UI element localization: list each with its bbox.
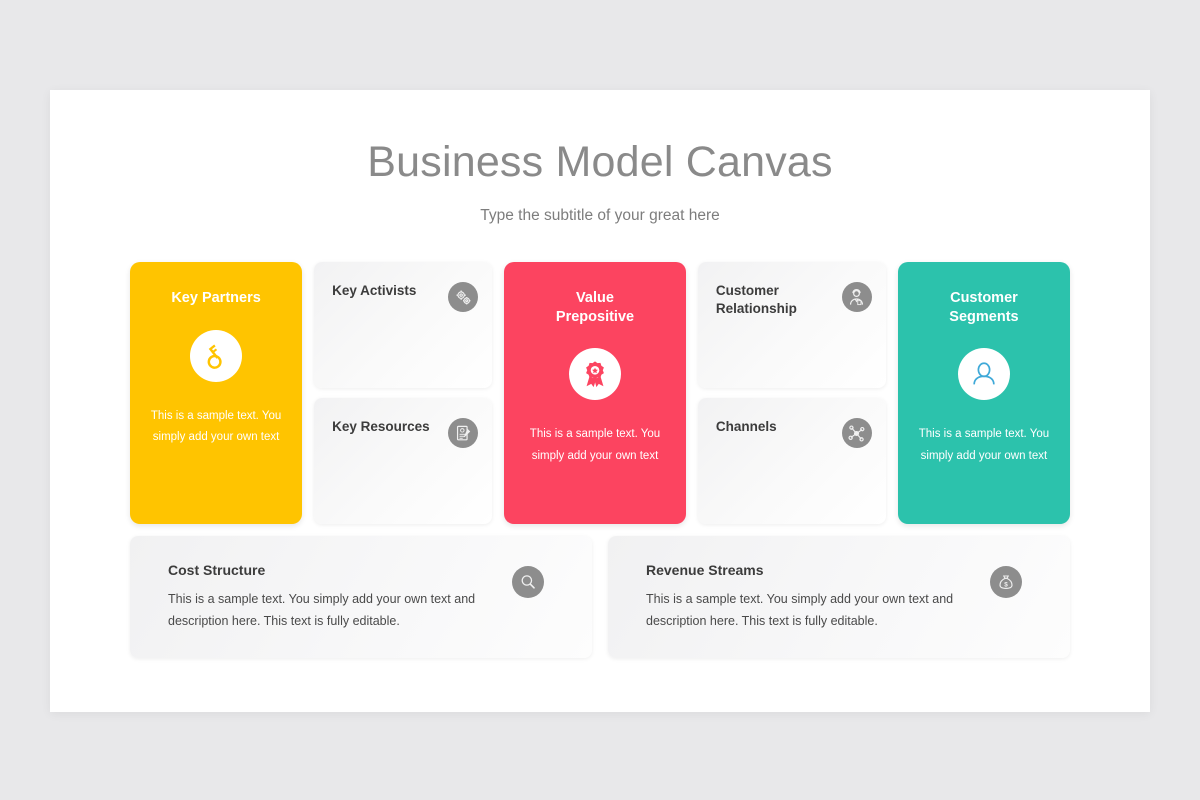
card-key-activists-title: Key Activists (332, 282, 416, 300)
card-key-partners-title: Key Partners (171, 289, 260, 308)
card-customer-relationship-title-line1: Customer (716, 283, 779, 298)
key-icon (201, 341, 231, 371)
magnifier-icon-circle (512, 566, 544, 598)
card-customer-relationship-title-line2: Relationship (716, 301, 797, 316)
document-pen-icon-circle (448, 418, 478, 448)
card-key-activists[interactable]: Key Activists (314, 262, 492, 388)
card-revenue-streams-text: This is a sample text. You simply add yo… (646, 588, 976, 633)
user-avatar-icon-circle (958, 348, 1010, 400)
document-pen-icon (454, 424, 473, 443)
card-value-prepositive-text: This is a sample text. You simply add yo… (504, 424, 686, 468)
support-agent-icon (847, 288, 866, 307)
money-bag-icon: $ (997, 573, 1015, 591)
card-customer-segments-title-line1: Customer (950, 290, 1018, 306)
gears-icon (454, 288, 473, 307)
card-channels-title: Channels (716, 418, 777, 436)
business-model-canvas-grid: Key Partners This is a sample text. You … (130, 262, 1070, 658)
network-hub-icon (847, 424, 866, 443)
card-channels[interactable]: Channels (698, 398, 886, 524)
magnifier-icon (519, 573, 537, 591)
award-badge-icon (580, 359, 610, 389)
card-customer-relationship[interactable]: Customer Relationship (698, 262, 886, 388)
card-revenue-streams-title: Revenue Streams (646, 562, 1048, 578)
money-bag-icon-circle: $ (990, 566, 1022, 598)
award-badge-icon-circle (569, 348, 621, 400)
card-key-partners-text: This is a sample text. You simply add yo… (130, 406, 302, 450)
column-key-activities: Key Activists (314, 262, 492, 524)
page-title: Business Model Canvas (50, 138, 1150, 187)
canvas-top-row: Key Partners This is a sample text. You … (130, 262, 1070, 524)
card-customer-relationship-title: Customer Relationship (716, 282, 797, 318)
card-cost-structure[interactable]: Cost Structure This is a sample text. Yo… (130, 536, 592, 658)
support-agent-icon-circle (842, 282, 872, 312)
card-key-resources[interactable]: Key Resources (314, 398, 492, 524)
card-customer-segments-text: This is a sample text. You simply add yo… (898, 424, 1070, 468)
card-value-prepositive[interactable]: Value Prepositive This is a sample text.… (504, 262, 686, 524)
column-customer-interface: Customer Relationship Chan (698, 262, 886, 524)
user-avatar-icon (969, 359, 999, 389)
network-hub-icon-circle (842, 418, 872, 448)
slide-canvas: Business Model Canvas Type the subtitle … (50, 90, 1150, 712)
card-cost-structure-text: This is a sample text. You simply add yo… (168, 588, 498, 633)
key-icon-circle (190, 330, 242, 382)
card-value-prepositive-title: Value Prepositive (556, 289, 634, 326)
card-value-prepositive-title-line2: Prepositive (556, 309, 634, 325)
card-key-resources-title: Key Resources (332, 418, 430, 436)
card-customer-segments-title: Customer Segments (949, 289, 1018, 326)
gears-icon-circle (448, 282, 478, 312)
card-key-partners[interactable]: Key Partners This is a sample text. You … (130, 262, 302, 524)
card-revenue-streams[interactable]: Revenue Streams This is a sample text. Y… (608, 536, 1070, 658)
page-subtitle: Type the subtitle of your great here (50, 207, 1150, 225)
card-customer-segments[interactable]: Customer Segments This is a sample text.… (898, 262, 1070, 524)
card-customer-segments-title-line2: Segments (949, 309, 1018, 325)
canvas-bottom-row: Cost Structure This is a sample text. Yo… (130, 536, 1070, 658)
svg-text:$: $ (1004, 582, 1008, 589)
card-value-prepositive-title-line1: Value (576, 290, 614, 306)
card-cost-structure-title: Cost Structure (168, 562, 570, 578)
